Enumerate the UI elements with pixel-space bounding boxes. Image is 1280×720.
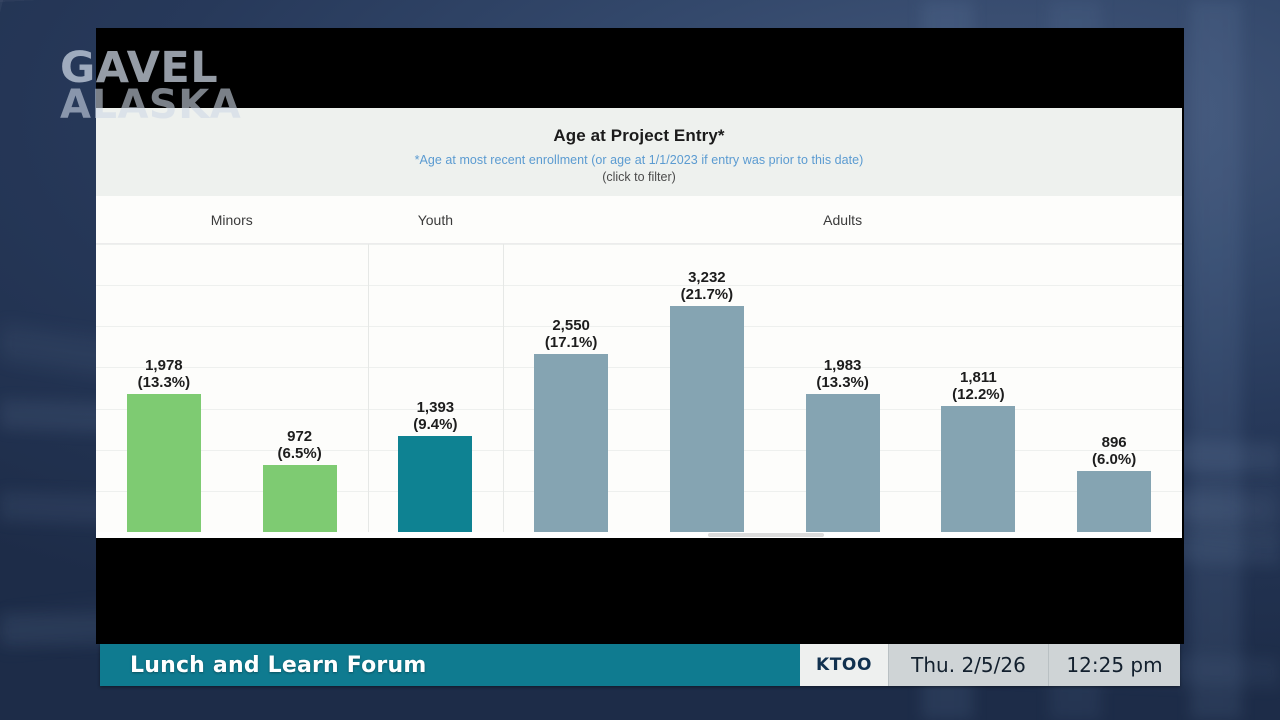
- chyron-time-label: 12:25 pm: [1066, 653, 1162, 677]
- chyron-time: 12:25 pm: [1048, 644, 1180, 686]
- card-scrollbar[interactable]: [96, 532, 1182, 538]
- bar-percent-label: (12.2%): [952, 386, 1005, 404]
- bar-percent-label: (6.5%): [278, 445, 322, 463]
- chyron-date: Thu. 2/5/26: [888, 644, 1048, 686]
- age-group-band: Minors Youth Adults: [96, 196, 1182, 244]
- chart-filter-hint: (click to filter): [96, 170, 1182, 184]
- bar-percent-label: (21.7%): [681, 286, 734, 304]
- bar-slot[interactable]: 1,978(13.3%): [96, 244, 232, 538]
- bar-slot[interactable]: 3,232(21.7%): [639, 244, 775, 538]
- bar-value-label: 896(6.0%): [1092, 434, 1136, 469]
- bar-value-label: 3,232(21.7%): [681, 269, 734, 304]
- bar-rect[interactable]: [263, 465, 337, 534]
- bar-percent-label: (17.1%): [545, 334, 598, 352]
- age-at-project-entry-card: Age at Project Entry* *Age at most recen…: [96, 108, 1182, 538]
- bar-value-label: 972(6.5%): [278, 428, 322, 463]
- bar-slot[interactable]: 1,811(12.2%): [911, 244, 1047, 538]
- bar-slot[interactable]: 1,393(9.4%): [368, 244, 504, 538]
- bar-rect[interactable]: [670, 306, 744, 534]
- bar-percent-label: (6.0%): [1092, 451, 1136, 469]
- bar-rect[interactable]: [127, 394, 201, 534]
- bar-slot[interactable]: 1,983(13.3%): [775, 244, 911, 538]
- bar-rect[interactable]: [806, 394, 880, 534]
- bar-value-label: 1,978(13.3%): [138, 357, 191, 392]
- bar-slot[interactable]: 972(6.5%): [232, 244, 368, 538]
- bar-rect[interactable]: [1077, 471, 1151, 534]
- ktoo-logo: KTOO: [800, 644, 888, 686]
- bar-value-label: 2,550(17.1%): [545, 317, 598, 352]
- card-scrollbar-thumb[interactable]: [708, 533, 824, 537]
- bar-rect[interactable]: [398, 436, 472, 534]
- bar-value-label: 1,393(9.4%): [413, 399, 457, 434]
- bar-percent-label: (13.3%): [816, 374, 869, 392]
- chyron-date-label: Thu. 2/5/26: [911, 653, 1026, 677]
- bar-rect[interactable]: [941, 406, 1015, 534]
- group-header-minors[interactable]: Minors: [96, 212, 368, 228]
- bar-value-label: 1,983(13.3%): [816, 357, 869, 392]
- bar-slot[interactable]: 896(6.0%): [1046, 244, 1182, 538]
- card-header: Age at Project Entry* *Age at most recen…: [96, 108, 1182, 196]
- plot-area: 1,978(13.3%)972(6.5%)1,393(9.4%)2,550(17…: [96, 244, 1182, 538]
- bar-percent-label: (9.4%): [413, 416, 457, 434]
- chart-footnote[interactable]: *Age at most recent enrollment (or age a…: [96, 153, 1182, 167]
- bar-rect[interactable]: [534, 354, 608, 534]
- bar-series: 1,978(13.3%)972(6.5%)1,393(9.4%)2,550(17…: [96, 244, 1182, 538]
- bar-slot[interactable]: 2,550(17.1%): [503, 244, 639, 538]
- bar-value-label: 1,811(12.2%): [952, 369, 1005, 404]
- chyron-program: Lunch and Learn Forum: [100, 644, 800, 686]
- chyron-program-label: Lunch and Learn Forum: [130, 653, 426, 678]
- lower-third-chyron: Lunch and Learn Forum KTOO Thu. 2/5/26 1…: [100, 644, 1180, 686]
- chart-title: Age at Project Entry*: [96, 126, 1182, 146]
- ktoo-logo-label: KTOO: [816, 655, 872, 675]
- group-header-youth[interactable]: Youth: [368, 212, 504, 228]
- broadcast-stage: GAVEL ALASKA Age at Project Entry* *Age …: [0, 0, 1280, 720]
- group-header-adults[interactable]: Adults: [503, 212, 1182, 228]
- bar-percent-label: (13.3%): [138, 374, 191, 392]
